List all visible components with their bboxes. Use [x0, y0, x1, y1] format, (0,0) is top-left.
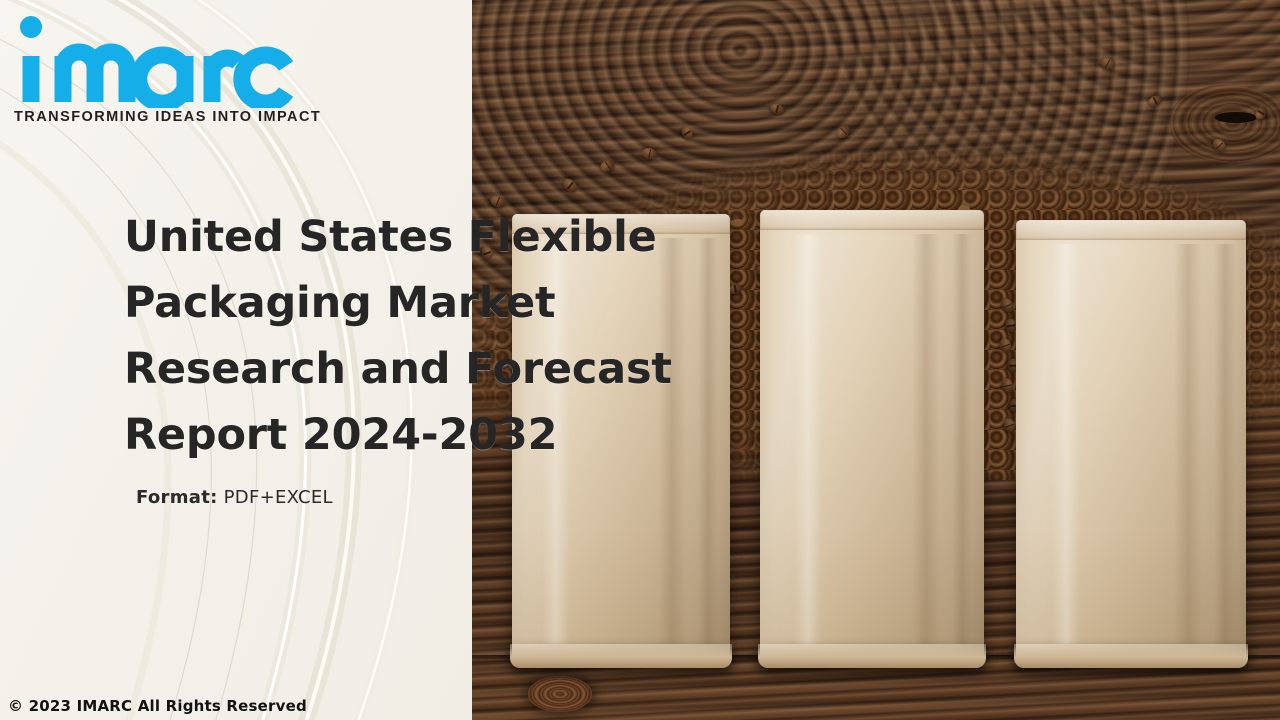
title-line-2: Packaging Market — [124, 270, 744, 336]
report-cover: TRANSFORMING IDEAS INTO IMPACT United St… — [0, 0, 1280, 720]
title-line-4: Report 2024-2032 — [124, 402, 744, 468]
wood-knot-crack — [1215, 112, 1257, 123]
pouch-crease — [912, 234, 940, 644]
pouch-crease — [1214, 244, 1236, 644]
imarc-logo: TRANSFORMING IDEAS INTO IMPACT — [8, 8, 321, 125]
pouch-highlight — [794, 234, 822, 644]
page-title: United States Flexible Packaging Market … — [124, 204, 744, 468]
kraft-pouch — [1016, 220, 1246, 662]
pouch-crease — [1174, 244, 1202, 644]
copyright-notice: © 2023 IMARC All Rights Reserved — [8, 697, 307, 715]
pouch-highlight — [1052, 244, 1080, 644]
format-label: Format: — [136, 487, 218, 508]
title-line-1: United States Flexible — [124, 204, 744, 270]
wood-knot-bottom — [528, 676, 592, 712]
title-line-3: Research and Forecast — [124, 336, 744, 402]
imarc-dot-icon — [20, 16, 42, 38]
format-value: PDF+EXCEL — [224, 487, 333, 508]
brand-tagline: TRANSFORMING IDEAS INTO IMPACT — [14, 109, 321, 125]
pouch-crease — [952, 234, 972, 644]
format-line: Format: PDF+EXCEL — [136, 487, 333, 508]
imarc-wordmark-icon — [8, 8, 294, 108]
kraft-pouch — [760, 210, 984, 662]
